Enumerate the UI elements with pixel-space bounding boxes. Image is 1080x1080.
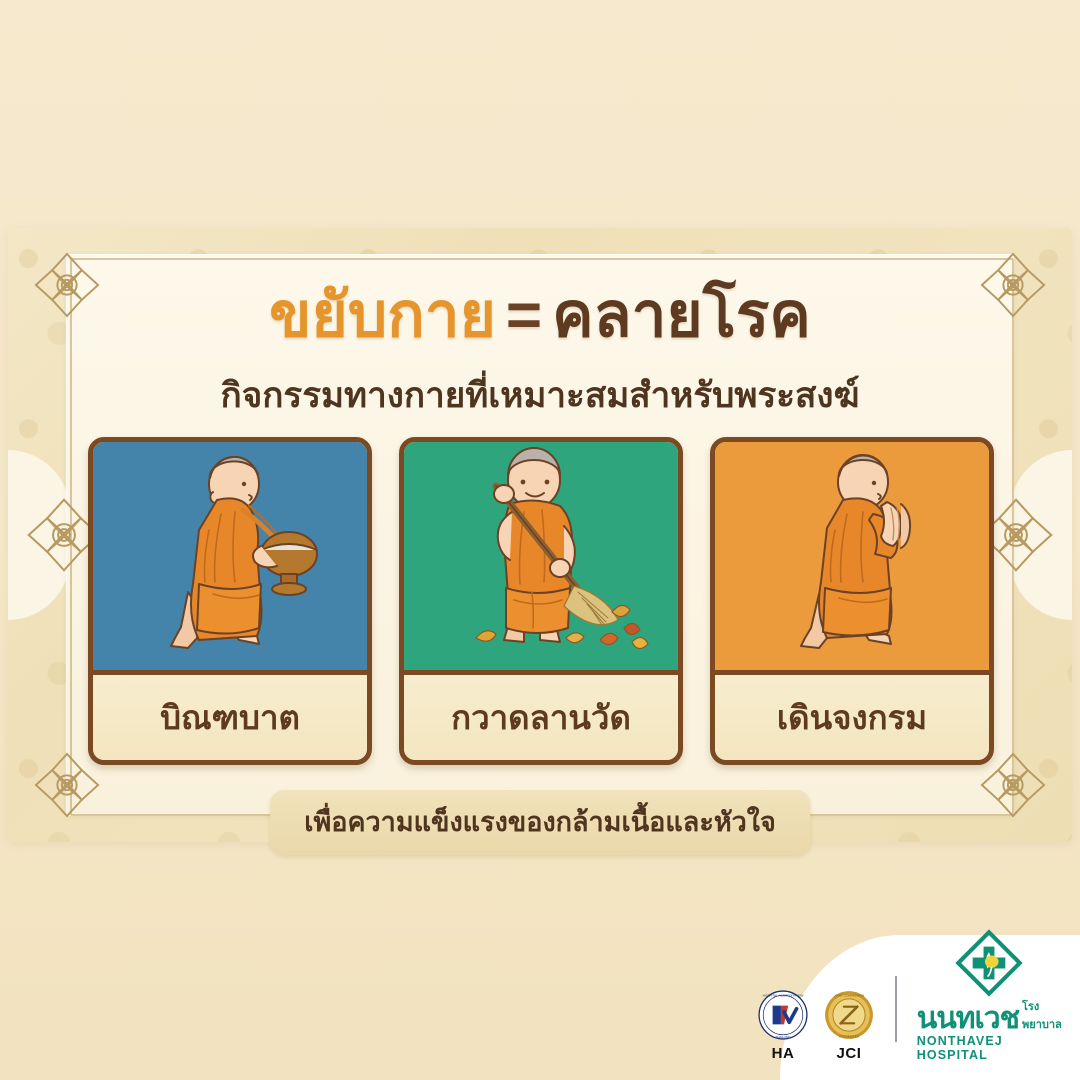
certification-ha: HOSPITAL ACCREDITATION THAILAND HA (757, 989, 809, 1062)
footer-note-pill: เพื่อความแข็งแรงของกล้ามเนื้อและหัวใจ (270, 790, 810, 855)
activity-card-list: บิณฑบาต (88, 437, 994, 757)
monk-almsround-illustration (93, 442, 367, 675)
svg-text:JOINT COMMISSION: JOINT COMMISSION (834, 993, 864, 997)
title-part-two: คลายโรค (552, 281, 811, 350)
monk-walking-meditation-illustration (715, 442, 989, 675)
activity-card-label: เดินจงกรม (715, 675, 989, 760)
activity-card-sweeping[interactable]: กวาดลานวัด (399, 437, 683, 765)
activity-card-walking-meditation[interactable]: เดินจงกรม (710, 437, 994, 765)
left-side-notch (8, 450, 70, 620)
certification-label: JCI (837, 1045, 862, 1062)
title-equals-sign: = (496, 281, 552, 350)
brand-thai-superscript: โรงพยาบาล (1022, 997, 1062, 1033)
certification-label: HA (772, 1045, 795, 1062)
nonthavej-diamond-cross-logo-icon (953, 929, 1025, 997)
brand-english-name: NONTHAVEJ HOSPITAL (917, 1034, 1062, 1062)
page-title: ขยับกาย=คลายโรค (0, 283, 1080, 348)
brand-thai-name: นนทเวช (917, 1005, 1019, 1034)
activity-card-almsround[interactable]: บิณฑบาต (88, 437, 372, 765)
activity-card-label: กวาดลานวัด (404, 675, 678, 760)
page-subtitle: กิจกรรมทางกายที่เหมาะสมสำหรับพระสงฆ์ (0, 368, 1080, 423)
svg-text:THAILAND: THAILAND (775, 1035, 791, 1039)
certification-jci: JOINT COMMISSION ACCREDITED JCI (823, 989, 875, 1062)
monk-sweeping-illustration (404, 442, 678, 675)
svg-text:HOSPITAL ACCREDITATION: HOSPITAL ACCREDITATION (763, 993, 804, 997)
logo-divider (895, 976, 897, 1042)
activity-card-label: บิณฑบาต (93, 675, 367, 760)
title-part-one: ขยับกาย (269, 281, 496, 350)
hospital-brand: นนทเวช โรงพยาบาล NONTHAVEJ HOSPITAL (917, 929, 1062, 1062)
svg-text:ACCREDITED: ACCREDITED (839, 1034, 860, 1038)
right-side-notch (1010, 450, 1072, 620)
jci-gold-seal-icon: JOINT COMMISSION ACCREDITED (823, 989, 875, 1041)
poster-canvas: ขยับกาย=คลายโรค กิจกรรมทางกายที่เหมาะสมส… (0, 0, 1080, 1080)
ha-accreditation-seal-icon: HOSPITAL ACCREDITATION THAILAND (757, 989, 809, 1041)
logo-footer: HOSPITAL ACCREDITATION THAILAND HA JOINT… (780, 935, 1080, 1080)
